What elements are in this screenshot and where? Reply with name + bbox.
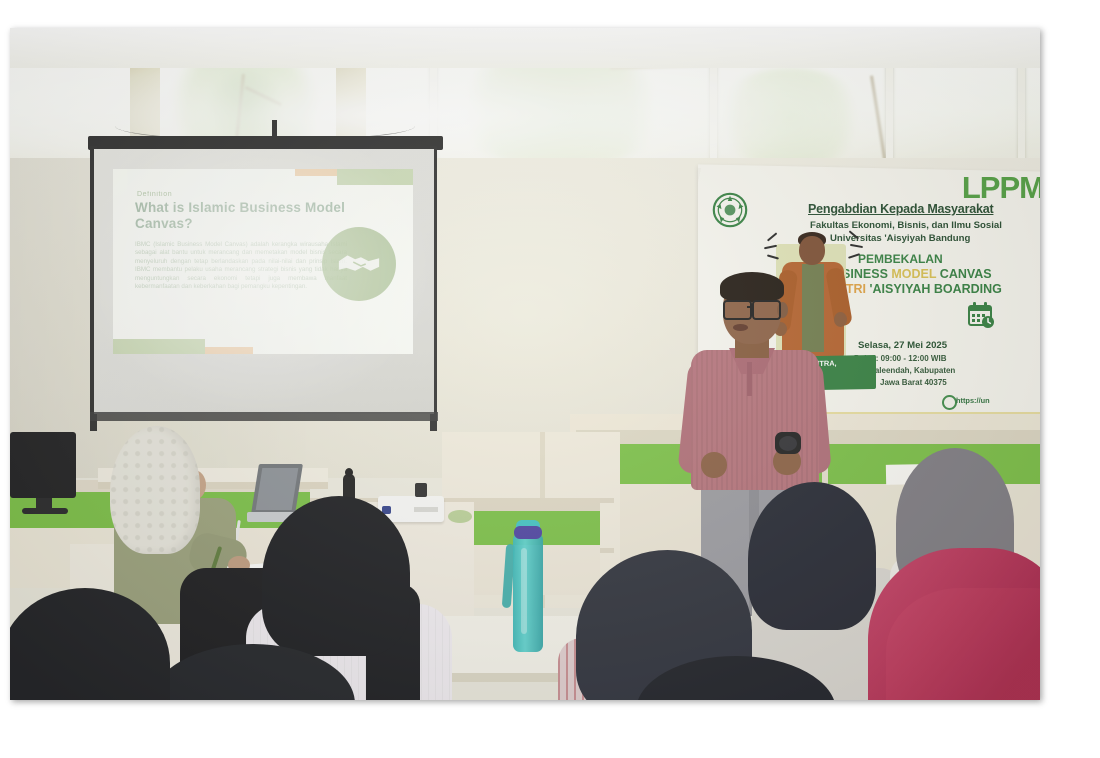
seminar-photograph: Definition What is Islamic Business Mode… <box>10 28 1040 700</box>
banner-date: Selasa, 27 Mei 2025 <box>858 340 947 351</box>
presentation-slide: Definition What is Islamic Business Mode… <box>113 169 413 354</box>
slide-accent-green-bottom <box>113 339 205 354</box>
handshake-icon <box>322 227 396 301</box>
banner-faculty-line-2: Universitas 'Aisyiyah Bandung <box>830 233 1040 244</box>
slide-eyebrow: Definition <box>137 191 172 198</box>
attendee-pale-jacket-hijab <box>748 482 876 630</box>
screen-bottom-bar <box>90 412 438 421</box>
globe-icon <box>942 395 957 410</box>
projector-vent <box>414 507 438 512</box>
attendee-white-blouse-hijab <box>262 496 410 656</box>
banner-title-line-1: PEMBEKALAN <box>858 252 943 266</box>
laptop-display <box>256 468 299 510</box>
page-root: Definition What is Islamic Business Mode… <box>0 0 1100 758</box>
glasses-icon <box>723 300 752 320</box>
ceiling <box>10 28 1040 68</box>
speaker-left-hand <box>701 452 727 478</box>
slide-accent-orange-bottom <box>205 347 253 354</box>
banner-heading: Pengabdian Kepada Masyarakat <box>808 202 1040 216</box>
slide-title: What is Islamic Business Model Canvas? <box>135 200 347 232</box>
mic-head <box>345 468 353 477</box>
slide-accent-green-top <box>337 169 413 185</box>
banner-url: https://un <box>956 396 990 405</box>
slide-accent-orange-top <box>295 169 337 176</box>
slide-body-text: IBMC (Islamic Business Model Canvas) ada… <box>135 241 347 291</box>
banner-location-line-2: Jawa Barat 40375 <box>880 378 947 387</box>
teal-water-bottle <box>513 532 543 652</box>
calendar-clock-icon <box>966 300 996 330</box>
lppm-wordmark: LPPM <box>962 170 1040 206</box>
monitor-base <box>22 508 68 514</box>
bottle-cap <box>514 526 542 539</box>
screen-top-bar <box>88 136 443 150</box>
desktop-monitor <box>10 432 76 498</box>
muhammadiyah-emblem-icon <box>712 192 748 228</box>
screen-pole-base <box>415 483 427 497</box>
speaker-hair <box>720 272 784 302</box>
computer-mouse <box>448 510 472 523</box>
